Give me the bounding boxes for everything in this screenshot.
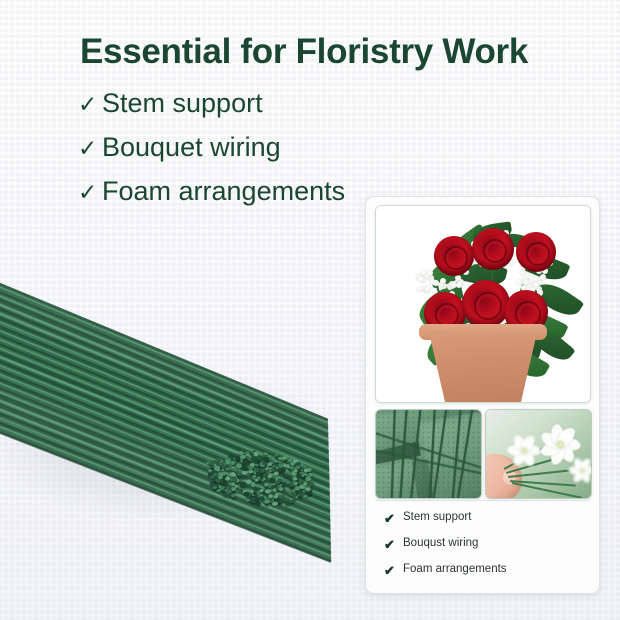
- list-item: ✔ Bouqust wiring: [375, 531, 590, 557]
- gypsophila: [425, 286, 431, 292]
- page-title: Essential for Floristry Work: [80, 33, 580, 72]
- feature-label: Bouquet wiring: [102, 134, 281, 161]
- wire-end: [278, 487, 283, 492]
- check-icon: ✓: [78, 181, 102, 204]
- check-icon: ✔: [384, 512, 403, 525]
- wire-end: [298, 494, 303, 498]
- wire-end: [216, 457, 221, 461]
- gypsophila: [456, 282, 462, 288]
- rose-bloom: [516, 232, 556, 272]
- wire-end: [213, 485, 217, 489]
- wire-end: [264, 499, 270, 504]
- list-item: ✔ Stem support: [375, 505, 590, 531]
- wire-end: [260, 476, 264, 479]
- wire-end: [288, 500, 292, 504]
- check-icon: ✔: [384, 564, 403, 577]
- flower-center: [521, 447, 528, 454]
- wire-end: [240, 482, 246, 487]
- wire-end: [255, 497, 260, 501]
- wire-cut-ends: [202, 413, 321, 539]
- gypsophila: [427, 270, 433, 276]
- red-roses-bouquet-photo: [375, 205, 591, 403]
- check-icon: ✓: [78, 137, 102, 160]
- jasmine-scene: [486, 410, 591, 498]
- divider: [375, 500, 590, 501]
- rose-bloom: [472, 228, 514, 270]
- wire-end: [273, 471, 279, 476]
- wire-end: [231, 473, 236, 477]
- wire-end: [216, 468, 220, 471]
- gypsophila: [533, 276, 539, 282]
- rose-bloom: [462, 280, 510, 328]
- card-feature-list: ✔ Stem support ✔ Bouqust wiring ✔ Foam a…: [375, 505, 590, 583]
- wire-end: [220, 486, 225, 490]
- wire-end: [280, 495, 286, 500]
- feature-label: Stem support: [403, 512, 471, 524]
- list-item: ✓ Foam arrangements: [78, 178, 408, 222]
- floral-foam-with-wires-photo: [375, 409, 482, 499]
- gypsophila: [417, 286, 423, 292]
- rose-bloom: [434, 236, 474, 276]
- check-icon: ✔: [384, 538, 403, 551]
- wire-end: [225, 467, 230, 471]
- wire-end: [290, 461, 295, 465]
- list-item: ✓ Stem support: [78, 90, 408, 134]
- gypsophila: [440, 278, 446, 284]
- promo-banner: Essential for Floristry Work ✓ Stem supp…: [0, 0, 620, 620]
- feature-label: Stem support: [102, 90, 263, 117]
- feature-list: ✓ Stem support ✓ Bouquet wiring ✓ Foam a…: [78, 90, 408, 222]
- inset-preview-card: ✔ Stem support ✔ Bouqust wiring ✔ Foam a…: [365, 196, 600, 594]
- wire-end: [272, 502, 278, 507]
- feature-label: Foam arrangements: [102, 178, 345, 205]
- gypsophila: [533, 282, 539, 288]
- gypsophila: [433, 280, 439, 286]
- white-jasmine-flowers-photo: [485, 409, 592, 499]
- wire-end: [256, 501, 261, 505]
- stem-wire-bundle-image: [0, 250, 340, 540]
- check-icon: ✓: [78, 93, 102, 116]
- roses-scene: [376, 206, 590, 402]
- wire-end: [278, 457, 282, 461]
- list-item: ✓ Bouquet wiring: [78, 134, 408, 178]
- wire-end: [260, 495, 264, 499]
- wire-end: [305, 476, 311, 481]
- foam-scene: [376, 410, 481, 498]
- wire-end: [222, 465, 226, 468]
- feature-label: Bouqust wiring: [403, 538, 478, 550]
- flower-center: [579, 467, 584, 472]
- wire-end: [230, 461, 235, 465]
- flower-center: [556, 440, 564, 448]
- feature-label: Foam arrangements: [403, 564, 507, 576]
- wire-end: [278, 500, 282, 503]
- terracotta-pot: [422, 334, 544, 402]
- gypsophila: [540, 274, 546, 280]
- list-item: ✔ Foam arrangements: [375, 557, 590, 583]
